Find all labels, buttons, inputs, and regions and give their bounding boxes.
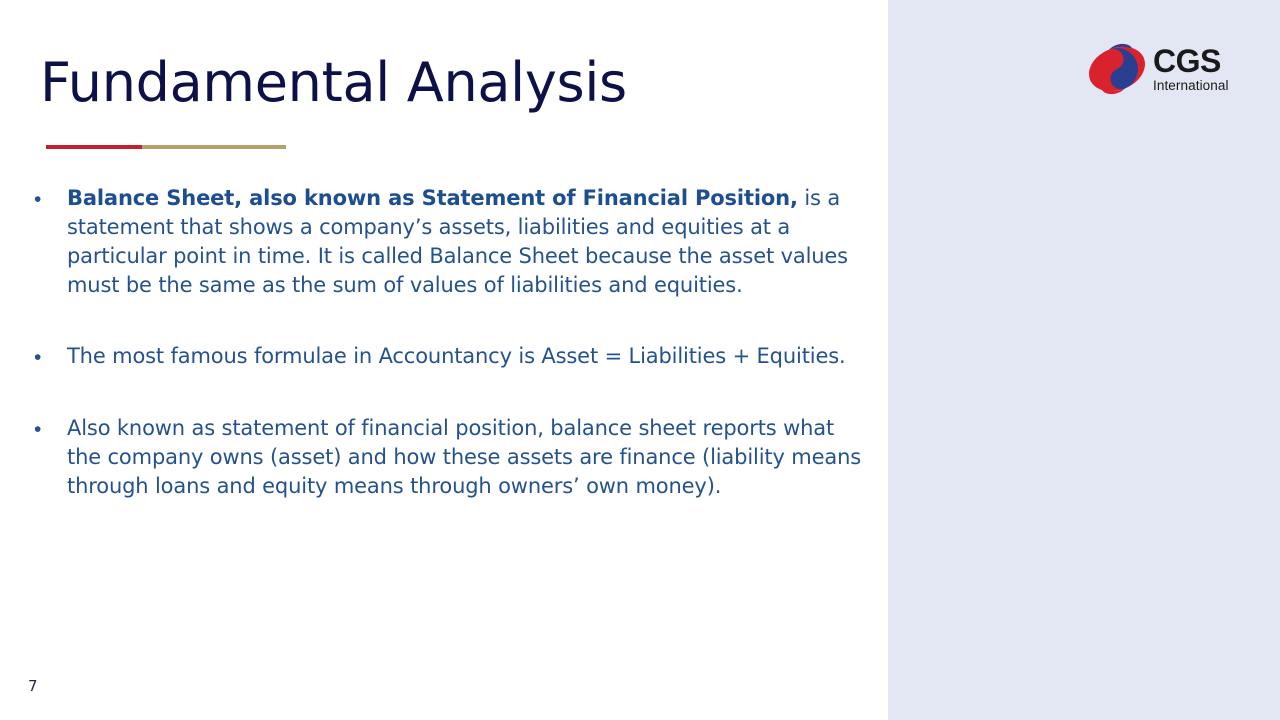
logo-primary-text: CGS <box>1153 45 1229 77</box>
divider-segment-red <box>46 145 142 149</box>
page-number: 7 <box>28 677 38 695</box>
logo-wordmark: CGS International <box>1153 45 1229 94</box>
bullet-list: • Balance Sheet, also known as Statement… <box>28 184 873 501</box>
list-item-body: Also known as statement of financial pos… <box>67 416 861 498</box>
slide: CGS International Fundamental Analysis •… <box>0 0 1280 720</box>
bullet-marker-icon: • <box>28 414 67 444</box>
list-item: • Also known as statement of financial p… <box>28 414 873 501</box>
bullet-marker-icon: • <box>28 184 67 214</box>
list-item-text: Balance Sheet, also known as Statement o… <box>67 184 873 300</box>
divider-segment-gold <box>142 145 286 149</box>
bullet-marker-icon: • <box>28 342 67 372</box>
list-item-body: The most famous formulae in Accountancy … <box>67 344 846 368</box>
list-item-lead: Balance Sheet, also known as Statement o… <box>67 186 798 210</box>
title-divider <box>46 145 286 149</box>
list-item: • Balance Sheet, also known as Statement… <box>28 184 873 300</box>
list-item: • The most famous formulae in Accountanc… <box>28 342 873 372</box>
cgs-international-logo: CGS International <box>1086 41 1236 97</box>
side-panel <box>888 0 1280 720</box>
list-item-text: The most famous formulae in Accountancy … <box>67 342 873 371</box>
page-title: Fundamental Analysis <box>40 48 627 118</box>
list-item-text: Also known as statement of financial pos… <box>67 414 873 501</box>
cgs-swirl-icon <box>1086 43 1148 95</box>
logo-secondary-text: International <box>1153 78 1229 94</box>
